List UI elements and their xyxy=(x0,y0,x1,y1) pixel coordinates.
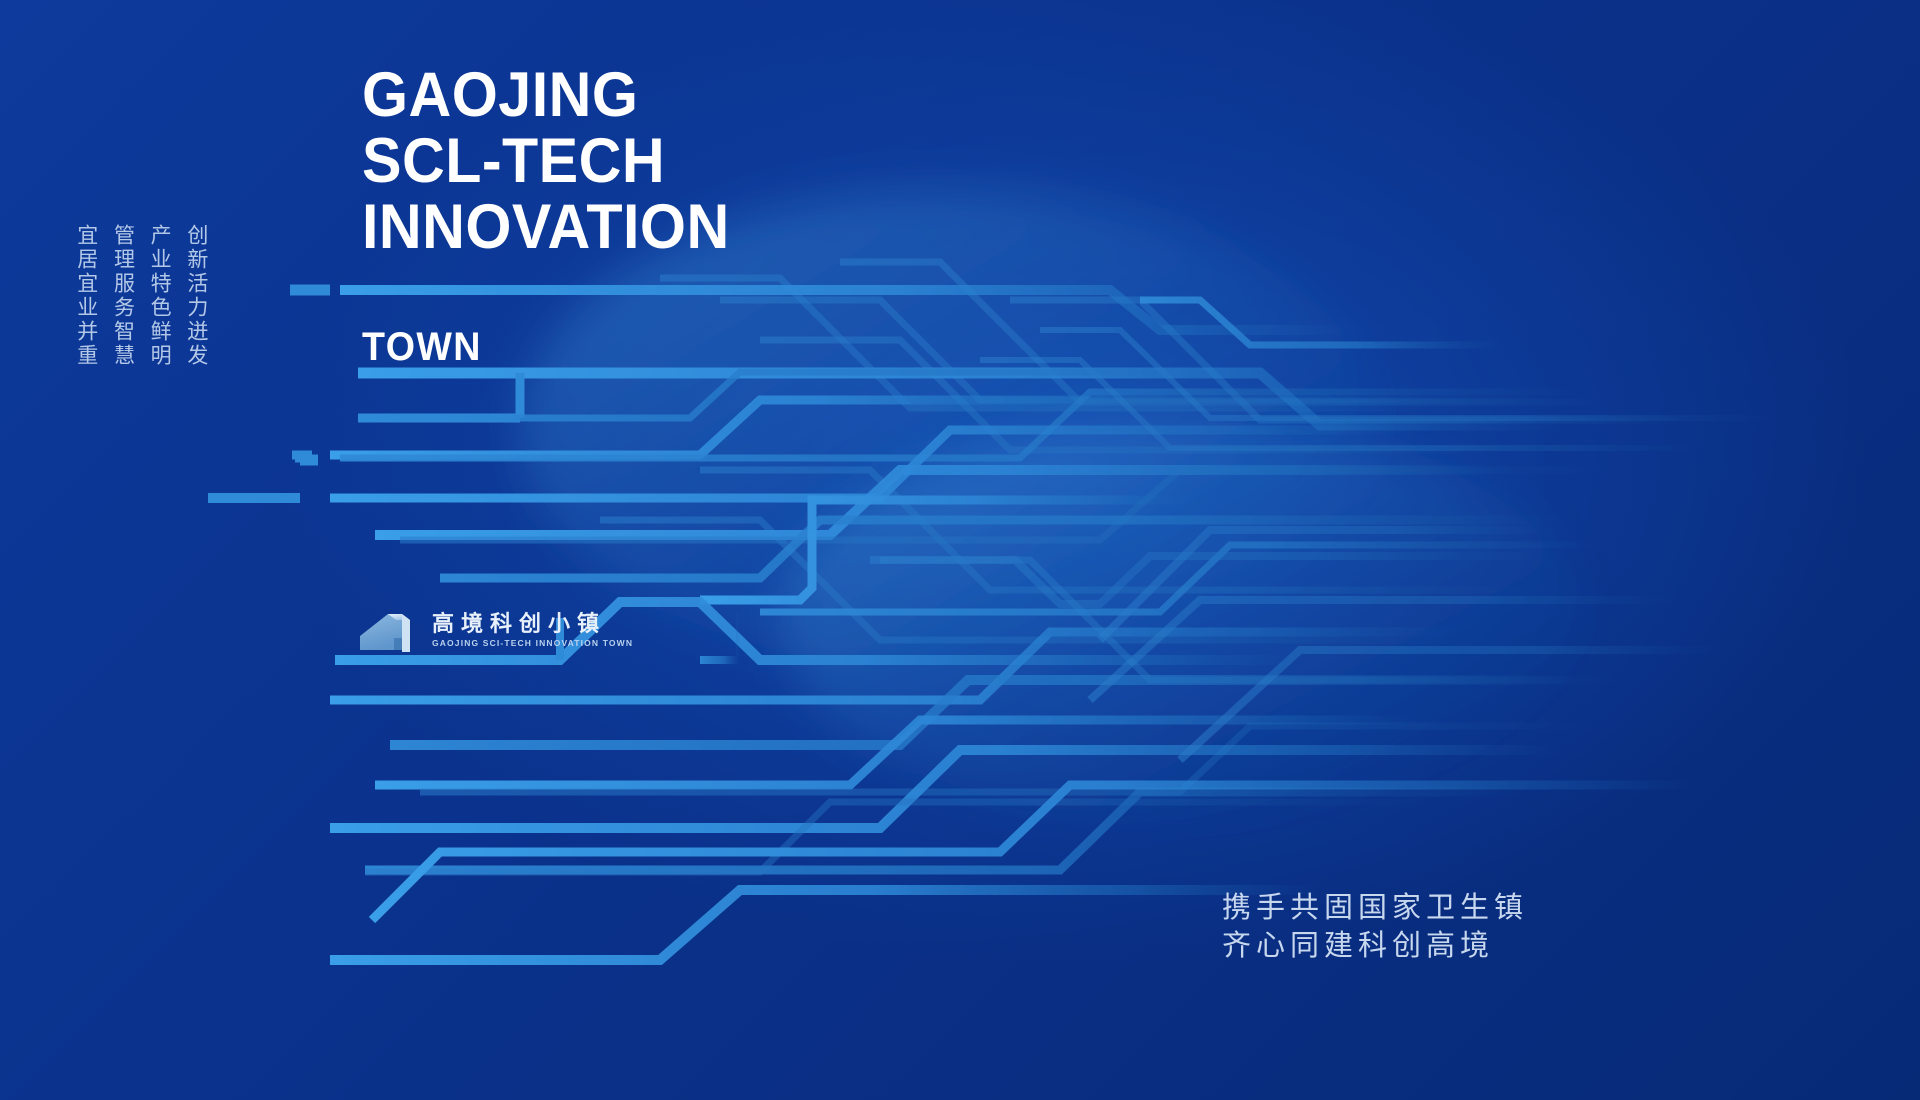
vertical-slogan-block: 创新活力迸发 产业特色鲜明 管理服务智慧 宜居宜业并重 xyxy=(72,224,210,368)
bottom-slogan-line-2: 齐心同建科创高境 xyxy=(1222,926,1528,964)
logo-lockup: 高境科创小镇 GAOJING SCI-TECH INNOVATION TOWN xyxy=(358,608,633,654)
logo-english-name: GAOJING SCI-TECH INNOVATION TOWN xyxy=(432,639,633,648)
bottom-slogan-block: 携手共固国家卫生镇 齐心同建科创高境 xyxy=(1222,888,1528,965)
vertical-slogan-column-4: 宜居宜业并重 xyxy=(72,224,100,368)
headline-block: GAOJING SCL-TECH INNOVATION xyxy=(362,62,753,260)
logo-text-group: 高境科创小镇 GAOJING SCI-TECH INNOVATION TOWN xyxy=(432,614,633,648)
headline-line-2: SCL-TECH xyxy=(362,128,730,194)
headline-line-1: GAOJING xyxy=(362,62,730,128)
house-roof-icon xyxy=(358,608,420,654)
bottom-slogan-line-1: 携手共固国家卫生镇 xyxy=(1222,888,1528,926)
poster-canvas: 创新活力迸发 产业特色鲜明 管理服务智慧 宜居宜业并重 GAOJING SCL-… xyxy=(0,0,1920,1100)
vertical-slogan-column-1: 创新活力迸发 xyxy=(182,224,210,368)
vertical-slogan-column-2: 产业特色鲜明 xyxy=(145,224,173,368)
headline-line-4-town: TOWN xyxy=(362,325,482,370)
vertical-slogan-column-3: 管理服务智慧 xyxy=(109,224,137,368)
logo-chinese-name: 高境科创小镇 xyxy=(432,614,633,636)
circuit-trace-artwork xyxy=(0,0,1920,1100)
headline-line-3: INNOVATION xyxy=(362,194,730,260)
